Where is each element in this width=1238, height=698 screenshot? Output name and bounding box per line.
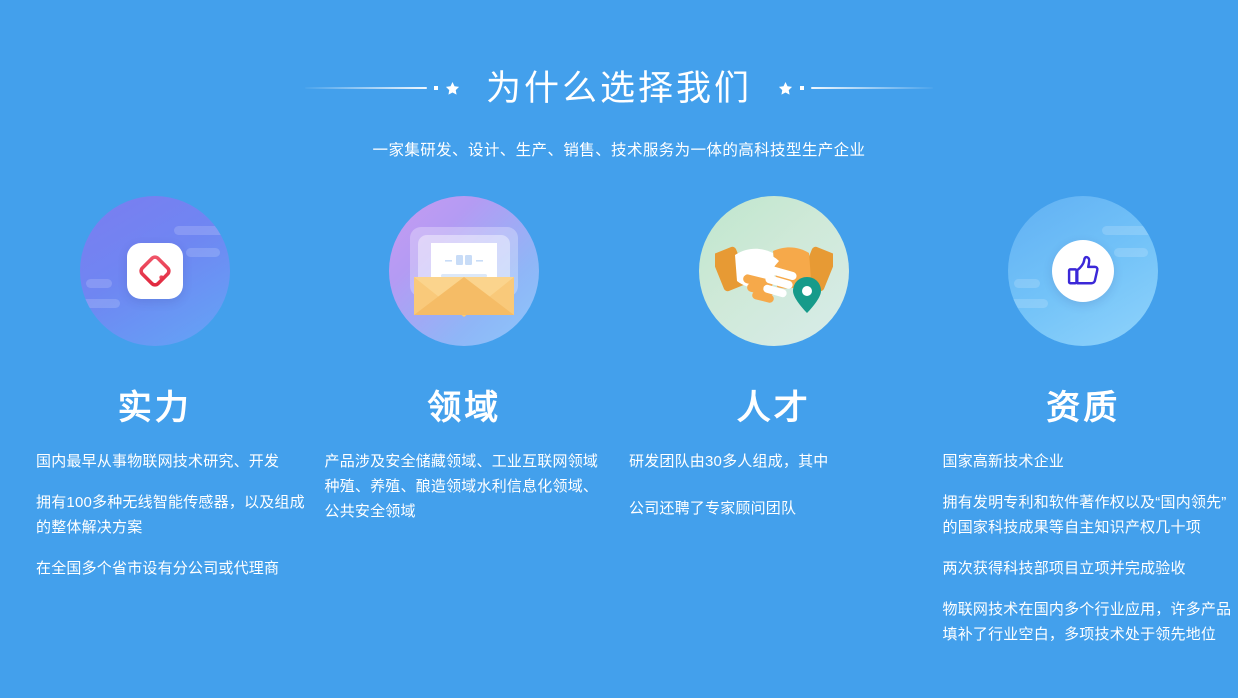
feature-text: 拥有发明专利和软件著作权以及“国内领先”的国家科技成果等自主知识产权几十项 [943, 490, 1235, 540]
icon-strength [80, 196, 230, 346]
column-title-qualification: 资质 [1046, 391, 1120, 425]
title-rule-right [811, 87, 933, 89]
column-body-qualification: 国家高新技术企业 拥有发明专利和软件著作权以及“国内领先”的国家科技成果等自主知… [929, 449, 1238, 647]
section-header: 为什么选择我们 一家集研发、设计、生产、销售、技术服务为一体的高科技型生产企业 [0, 0, 1238, 160]
why-choose-us-section: 为什么选择我们 一家集研发、设计、生产、销售、技术服务为一体的高科技型生产企业 [0, 0, 1238, 698]
feature-text: 研发团队由30多人组成，其中 [629, 449, 909, 474]
feature-column-strength: 实力 国内最早从事物联网技术研究、开发 拥有100多种无线智能传感器，以及组成的… [0, 196, 310, 647]
feature-text: 拥有100多种无线智能传感器，以及组成的整体解决方案 [36, 490, 306, 540]
envelope-certificate-icon [408, 221, 520, 322]
feature-text: 两次获得科技部项目立项并完成验收 [943, 556, 1235, 581]
handshake-icon [715, 221, 833, 322]
icon-domain [389, 196, 539, 346]
title-rule-left [305, 87, 427, 89]
feature-text: 产品涉及安全储藏领域、工业互联网领域种殖、养殖、酿造领域水利信息化领域、公共安全… [325, 449, 610, 524]
feature-column-domain: 领域 产品涉及安全储藏领域、工业互联网领域种殖、养殖、酿造领域水利信息化领域、公… [310, 196, 620, 647]
column-title-domain: 领域 [427, 391, 501, 425]
feature-text: 国内最早从事物联网技术研究、开发 [36, 449, 306, 474]
feature-text: 国家高新技术企业 [943, 449, 1235, 474]
column-title-talent: 人才 [737, 391, 811, 425]
page-subtitle: 一家集研发、设计、生产、销售、技术服务为一体的高科技型生产企业 [0, 138, 1238, 160]
title-row: 为什么选择我们 [0, 62, 1238, 114]
thumbs-up-icon [1052, 240, 1114, 302]
column-body-talent: 研发团队由30多人组成，其中 公司还聘了专家顾问团队 [619, 449, 929, 521]
feature-text: 在全国多个省市设有分公司或代理商 [36, 556, 306, 581]
dot-icon-right [800, 86, 804, 90]
feature-text: 公司还聘了专家顾问团队 [629, 496, 909, 521]
feature-columns: 实力 国内最早从事物联网技术研究、开发 拥有100多种无线智能传感器，以及组成的… [0, 196, 1238, 647]
star-icon-left [445, 81, 460, 96]
dot-icon-left [434, 86, 438, 90]
diamond-badge-icon [127, 243, 183, 299]
column-title-strength: 实力 [118, 391, 192, 425]
feature-text: 物联网技术在国内多个行业应用，许多产品填补了行业空白，多项技术处于领先地位 [943, 597, 1235, 647]
icon-talent [699, 196, 849, 346]
feature-column-talent: 人才 研发团队由30多人组成，其中 公司还聘了专家顾问团队 [619, 196, 929, 647]
feature-column-qualification: 资质 国家高新技术企业 拥有发明专利和软件著作权以及“国内领先”的国家科技成果等… [929, 196, 1238, 647]
page-title: 为什么选择我们 [486, 71, 752, 106]
star-icon-right [778, 81, 793, 96]
column-body-domain: 产品涉及安全储藏领域、工业互联网领域种殖、养殖、酿造领域水利信息化领域、公共安全… [310, 449, 620, 524]
icon-qualification [1008, 196, 1158, 346]
column-body-strength: 国内最早从事物联网技术研究、开发 拥有100多种无线智能传感器，以及组成的整体解… [0, 449, 310, 581]
